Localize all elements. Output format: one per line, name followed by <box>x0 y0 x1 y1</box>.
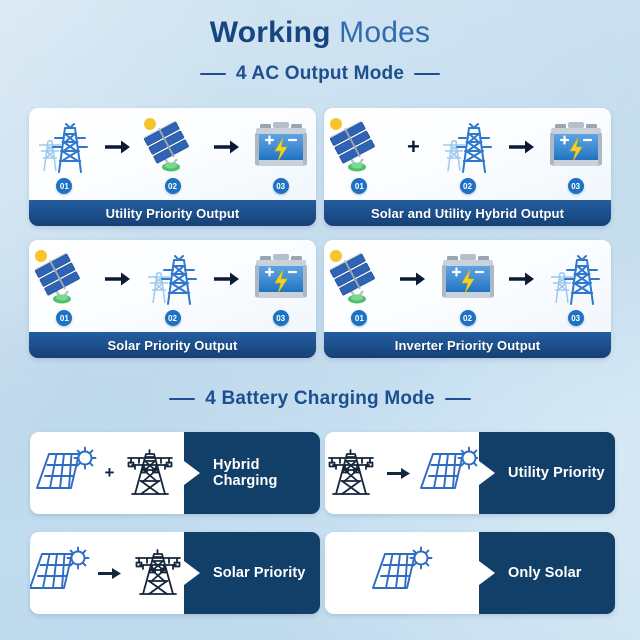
icon-panel: + <box>30 432 183 514</box>
page-title-strong: Working <box>210 16 331 49</box>
arrow-right-icon <box>212 272 241 286</box>
label-panel: Solar Priority <box>183 532 320 614</box>
arrow-right-icon <box>214 272 240 286</box>
step-icon <box>32 246 96 308</box>
section-heading-battery-label: 4 Battery Charging Mode <box>205 388 434 410</box>
plus-icon: + <box>105 463 115 483</box>
charging-card-label: Hybrid Charging <box>213 457 320 489</box>
step-number-badge: 03 <box>568 178 584 194</box>
icon-panel <box>30 532 183 614</box>
step-number-badge: 03 <box>568 310 584 326</box>
arrow-right-icon <box>98 567 122 580</box>
step-number-badge: 01 <box>56 310 72 326</box>
arrow-right-icon <box>387 467 411 480</box>
charging-mode-card[interactable]: Utility Priority <box>325 432 615 514</box>
utility-tower-line-icon <box>130 545 186 597</box>
section-heading-ac: 4 AC Output Mode <box>0 63 640 85</box>
utility-tower-icon <box>547 247 605 307</box>
label-panel: Only Solar <box>478 532 615 614</box>
arrow-right-icon <box>105 140 131 154</box>
solar-panel-line-icon <box>30 546 90 596</box>
battery-icon <box>546 118 606 172</box>
step-icon <box>327 246 391 308</box>
charging-icon <box>371 546 433 601</box>
step-number-badge: 02 <box>460 310 476 326</box>
flow-step: 01 <box>324 114 395 194</box>
label-panel: Utility Priority <box>478 432 615 514</box>
step-icon <box>327 114 391 176</box>
utility-tower-icon <box>144 247 202 307</box>
step-icon <box>141 114 205 176</box>
step-number-badge: 02 <box>460 178 476 194</box>
arrow-right-icon <box>98 567 122 580</box>
flow-step: 01 <box>324 246 395 326</box>
ac-mode-card[interactable]: 01 02 <box>29 240 316 358</box>
flow-step: 03 <box>540 246 611 326</box>
flow-row: 01 + 02 <box>324 108 611 200</box>
step-number-badge: 02 <box>165 178 181 194</box>
step-icon <box>251 114 311 176</box>
solar-array-icon <box>327 247 391 307</box>
charging-icon <box>122 445 178 502</box>
section-heading-ac-label: 4 AC Output Mode <box>236 63 404 85</box>
ac-mode-card[interactable]: 01 + 02 <box>324 108 611 226</box>
flow-step: 02 <box>137 246 208 326</box>
dash-left-icon <box>169 398 195 400</box>
step-number-badge: 02 <box>165 310 181 326</box>
icon-panel <box>325 532 478 614</box>
dash-right-icon <box>445 398 471 400</box>
arrow-right-icon <box>214 140 240 154</box>
chevron-notch-icon <box>183 432 201 514</box>
solar-array-icon <box>141 115 205 175</box>
charging-icon <box>325 445 379 502</box>
chevron-notch-icon <box>478 432 496 514</box>
chevron-notch-icon <box>183 532 201 614</box>
charging-icon <box>35 446 97 501</box>
flow-step: 03 <box>245 114 316 194</box>
arrow-right-icon <box>400 272 426 286</box>
flow-step: 02 <box>432 114 503 194</box>
charging-card-label: Solar Priority <box>213 565 305 581</box>
charging-mode-card[interactable]: Solar Priority <box>30 532 320 614</box>
battery-icon <box>251 250 311 304</box>
battery-icon <box>251 118 311 172</box>
arrow-right-icon <box>509 140 535 154</box>
page-title-light: Modes <box>339 16 430 49</box>
flow-row: 01 02 <box>29 240 316 332</box>
flow-step: 02 <box>137 114 208 194</box>
utility-tower-line-icon <box>325 445 379 497</box>
charging-mode-card[interactable]: Only Solar <box>325 532 615 614</box>
section-heading-battery: 4 Battery Charging Mode <box>0 388 640 410</box>
charging-card-label: Utility Priority <box>508 465 605 481</box>
card-label: Solar and Utility Hybrid Output <box>324 200 611 226</box>
step-number-badge: 01 <box>351 310 367 326</box>
solar-array-icon <box>327 115 391 175</box>
solar-panel-line-icon <box>371 546 433 596</box>
solar-panel-line-icon <box>35 446 97 496</box>
page-title: Working Modes <box>0 16 640 50</box>
flow-step: 01 <box>29 246 100 326</box>
flow-step: 03 <box>540 114 611 194</box>
arrow-right-icon <box>105 272 131 286</box>
arrow-right-icon <box>104 272 133 286</box>
icon-panel <box>325 432 478 514</box>
arrow-right-icon <box>212 140 241 154</box>
step-icon <box>439 114 497 176</box>
card-label: Solar Priority Output <box>29 332 316 358</box>
step-number-badge: 03 <box>273 178 289 194</box>
charging-card-label: Only Solar <box>508 565 582 581</box>
battery-icon <box>438 250 498 304</box>
solar-array-icon <box>32 247 96 307</box>
utility-tower-icon <box>439 115 497 175</box>
charging-icon <box>30 546 90 601</box>
charging-icon <box>130 545 186 602</box>
ac-mode-card[interactable]: 01 <box>29 108 316 226</box>
arrow-right-icon <box>104 140 133 154</box>
step-icon <box>547 246 605 308</box>
arrow-right-icon <box>507 272 536 286</box>
flow-row: 01 <box>29 108 316 200</box>
arrow-right-icon <box>507 140 536 154</box>
flow-step: 02 <box>432 246 503 326</box>
label-panel: Hybrid Charging <box>183 432 320 514</box>
chevron-notch-icon <box>478 532 496 614</box>
flow-step: 03 <box>245 246 316 326</box>
dash-right-icon <box>414 73 440 75</box>
solar-panel-line-icon <box>419 446 481 496</box>
step-icon <box>144 246 202 308</box>
plus-icon: + <box>399 136 428 158</box>
flow-step: 01 <box>29 114 100 194</box>
arrow-right-icon <box>399 272 428 286</box>
ac-mode-card[interactable]: 01 02 <box>324 240 611 358</box>
step-number-badge: 01 <box>56 178 72 194</box>
dash-left-icon <box>200 73 226 75</box>
card-label: Inverter Priority Output <box>324 332 611 358</box>
step-number-badge: 01 <box>351 178 367 194</box>
step-icon <box>438 246 498 308</box>
flow-row: 01 02 <box>324 240 611 332</box>
card-label: Utility Priority Output <box>29 200 316 226</box>
arrow-right-icon <box>509 272 535 286</box>
charging-icon <box>419 446 481 501</box>
step-number-badge: 03 <box>273 310 289 326</box>
arrow-right-icon <box>387 467 411 480</box>
step-icon <box>35 114 93 176</box>
charging-mode-card[interactable]: + Hybrid Charging <box>30 432 320 514</box>
step-icon <box>251 246 311 308</box>
utility-tower-icon <box>35 115 93 175</box>
step-icon <box>546 114 606 176</box>
utility-tower-line-icon <box>122 445 178 497</box>
